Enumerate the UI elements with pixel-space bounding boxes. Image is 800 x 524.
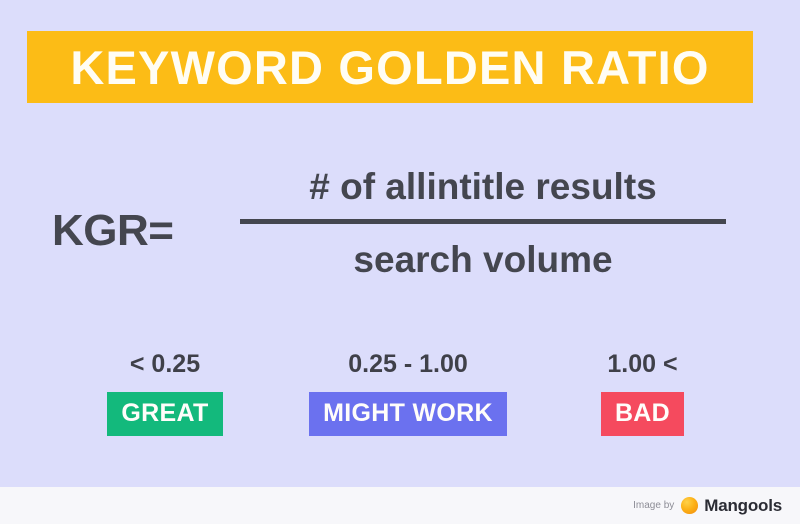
footer-attribution-bar: Image by Mangools <box>0 487 800 524</box>
footer-brand-name: Mangools <box>704 496 782 516</box>
legend-item-might-work: 0.25 - 1.00 MIGHT WORK <box>303 352 513 436</box>
formula-fraction: # of allintitle results search volume <box>238 168 728 278</box>
kgr-legend: < 0.25 GREAT 0.25 - 1.00 MIGHT WORK 1.00… <box>0 352 800 442</box>
formula-left-label: KGR= <box>52 206 173 256</box>
infographic-canvas: KEYWORD GOLDEN RATIO KGR= # of allintitl… <box>0 0 800 524</box>
kgr-formula: KGR= # of allintitle results search volu… <box>0 168 800 303</box>
status-badge-might-work: MIGHT WORK <box>309 392 507 436</box>
legend-range-label: < 0.25 <box>60 352 270 377</box>
formula-denominator: search volume <box>238 224 728 278</box>
status-badge-great: GREAT <box>107 392 222 436</box>
legend-item-bad: 1.00 < BAD <box>555 352 730 436</box>
mango-icon <box>681 497 698 514</box>
legend-range-label: 1.00 < <box>555 352 730 377</box>
status-badge-bad: BAD <box>601 392 684 436</box>
title-banner: KEYWORD GOLDEN RATIO <box>27 31 753 103</box>
page-title: KEYWORD GOLDEN RATIO <box>70 44 709 91</box>
footer-credit-text: Image by <box>633 500 674 511</box>
legend-item-great: < 0.25 GREAT <box>60 352 270 436</box>
legend-range-label: 0.25 - 1.00 <box>303 352 513 377</box>
formula-numerator: # of allintitle results <box>238 168 728 219</box>
